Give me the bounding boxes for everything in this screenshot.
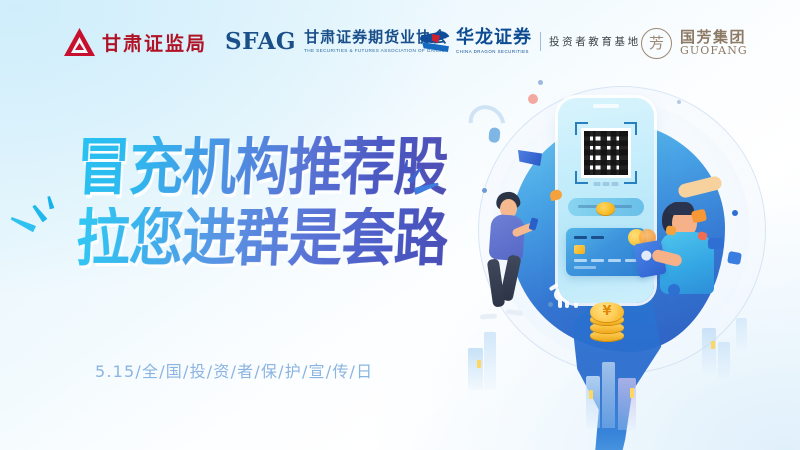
walking-man-with-phone <box>472 192 554 324</box>
phone-qr-scam-illustration: ¥ <box>440 80 800 450</box>
dot-decoration <box>677 100 681 104</box>
smartphone-icon <box>528 217 538 230</box>
investor-education-base-label: 投资者教育基地 <box>549 34 641 49</box>
dot-decoration <box>482 188 487 193</box>
headline-block: 冒充机构推荐股 拉您进群是套路 <box>78 136 449 261</box>
chat-bubble-decoration <box>727 251 742 265</box>
logo-divider <box>540 32 541 51</box>
campaign-date-line: 5.15/全/国/投/资/者/保/护/宣/传/日 <box>95 358 373 382</box>
logo-hlzq-label-cn: 华龙证券 <box>456 29 532 47</box>
logo-china-dragon-securities: 华龙证券 CHINA DRAGON SECURITIES 投资者教育基地 <box>420 28 641 54</box>
logo-gansu-label: 甘肃证监局 <box>102 29 207 56</box>
chat-bubble-decoration <box>708 238 724 249</box>
logo-hlzq-label-en: CHINA DRAGON SECURITIES <box>456 49 532 54</box>
yen-symbol: ¥ <box>590 302 624 322</box>
poster-canvas: 甘肃证监局 SFAG 甘肃证券期货业协会 THE SECURITIES & FU… <box>0 0 800 450</box>
spark-burst-left-icon <box>10 196 72 244</box>
qr-caption-placeholder <box>594 182 619 186</box>
logo-guofang-label-en: GUOFANG <box>680 45 748 57</box>
chat-bubble-decoration <box>665 225 676 235</box>
coin-stack: ¥ <box>590 302 624 342</box>
circular-seal-icon: 芳 <box>641 28 672 59</box>
qr-code-scanner <box>581 128 631 178</box>
headline-line-1: 冒充机构推荐股 <box>75 136 449 199</box>
logo-guofang-label-cn: 国芳集团 <box>680 30 748 46</box>
shoe <box>480 313 497 319</box>
dot-decoration <box>528 94 538 104</box>
logo-sfag: SFAG 甘肃证券期货业协会 THE SECURITIES & FUTURES … <box>225 28 448 55</box>
dot-decoration <box>732 210 738 216</box>
scan-frame-icon <box>575 122 637 184</box>
dot-decoration <box>538 80 543 85</box>
seated-woman-with-tablet <box>650 180 750 320</box>
card-chip-icon <box>574 245 585 254</box>
dot-decoration <box>668 284 680 296</box>
headline-line-2: 拉您进群是套路 <box>75 207 449 270</box>
logo-bar: 甘肃证监局 SFAG 甘肃证券期货业协会 THE SECURITIES & FU… <box>0 0 800 86</box>
logo-guofang-group: 芳 国芳集团 GUOFANG <box>641 28 748 59</box>
red-triangle-icon <box>64 28 95 56</box>
shoe <box>506 309 524 316</box>
phone-speaker <box>593 104 619 108</box>
dot-decoration <box>548 302 553 307</box>
dragon-wave-icon <box>420 28 450 54</box>
legs <box>484 255 528 313</box>
logo-sfag-acronym: SFAG <box>225 28 296 55</box>
logo-gansu-securities-regulatory-bureau: 甘肃证监局 <box>64 28 207 56</box>
coin-icon <box>596 202 615 215</box>
hair-fringe <box>668 202 694 215</box>
